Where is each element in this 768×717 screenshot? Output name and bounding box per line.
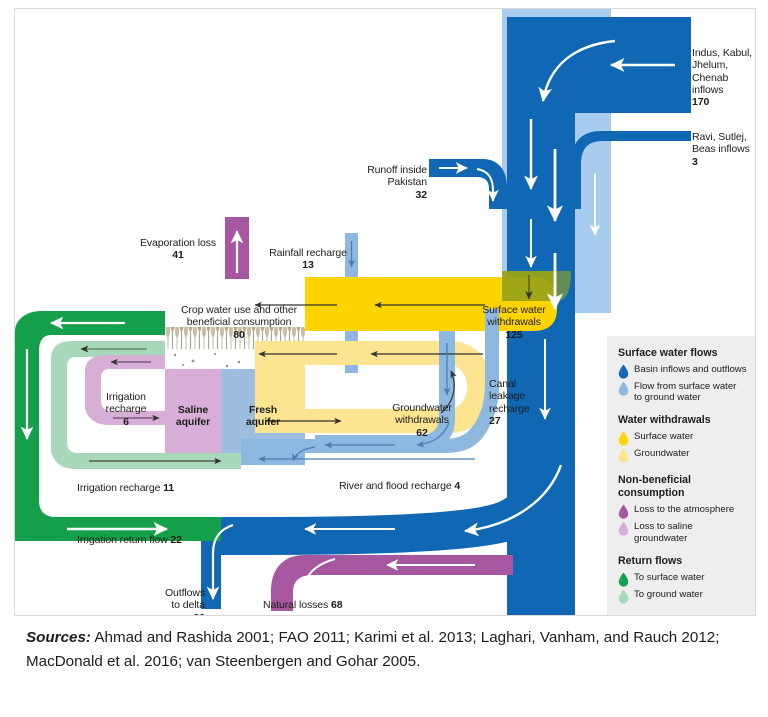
ravi-inflows-value: 3: [692, 156, 756, 168]
rainfall-value: 13: [265, 259, 351, 271]
legend-item-to-ground-water: To ground water: [618, 589, 747, 604]
label-runoff-inside-pakistan: Runoff inside Pakistan32: [355, 152, 427, 213]
natural-losses-text: Natural losses: [263, 599, 331, 611]
rainfall-text: Rainfall recharge: [269, 247, 347, 259]
evaporation-value: 41: [133, 249, 223, 261]
canal-leakage-text: Canal leakage recharge: [489, 378, 530, 414]
water-drop-icon: [618, 431, 629, 446]
legend-heading-surface-water-flows: Surface water flows: [618, 347, 747, 360]
legend-item-surface-to-ground: Flow from surface water to ground water: [618, 381, 747, 403]
label-groundwater-withdrawals: Groundwater withdrawals62: [381, 390, 463, 451]
legend-panel: Surface water flows Basin inflows and ou…: [607, 336, 755, 615]
sources-text: Ahmad and Rashida 2001; FAO 2011; Karimi…: [26, 629, 719, 670]
legend-heading-water-withdrawals: Water withdrawals: [618, 414, 747, 427]
legend-label-basin-inflows: Basin inflows and outflows: [634, 364, 747, 375]
crop-value: 80: [175, 329, 303, 341]
irrigation-return-flow-text: Irrigation return flow: [77, 534, 170, 546]
label-evaporation-loss: Evaporation loss41: [133, 225, 223, 274]
label-river-flood-recharge: River and flood recharge 4: [339, 468, 509, 492]
label-crop-water-use: Crop water use and other beneficial cons…: [175, 292, 303, 353]
label-natural-losses: Natural losses 68: [263, 587, 403, 611]
fresh-aquifer-text: Fresh aquifer: [246, 404, 280, 428]
legend-label-surface-water: Surface water: [634, 431, 693, 442]
groundwater-withdrawals-value: 62: [381, 427, 463, 439]
water-balance-figure: #bde3dd #6b4423: [14, 8, 756, 616]
outflows-delta-value: 30: [147, 612, 205, 616]
legend-label-surface-to-ground: Flow from surface water to ground water: [634, 381, 747, 403]
saline-aquifer-text: Saline aquifer: [176, 404, 210, 428]
legend-item-groundwater: Groundwater: [618, 448, 747, 463]
label-indus-inflows: Indus, Kabul, Jhelum, Chenab inflows170: [692, 35, 756, 120]
water-drop-icon: [618, 521, 629, 536]
water-drop-icon: [618, 589, 629, 604]
sources-prefix: Sources:: [26, 629, 91, 646]
water-drop-icon: [618, 572, 629, 587]
water-drop-icon: [618, 381, 629, 396]
label-surface-water-withdrawals: Surface water withdrawals125: [476, 292, 552, 353]
legend-label-groundwater: Groundwater: [634, 448, 689, 459]
evaporation-loss-flow: [225, 217, 249, 279]
irrigation-recharge-6-value: 6: [97, 416, 155, 428]
surface-withdrawals-value: 125: [476, 329, 552, 341]
legend-heading-return-flows: Return flows: [618, 555, 747, 568]
natural-losses-value: 68: [331, 599, 342, 611]
river-flood-recharge-text: River and flood recharge: [339, 480, 454, 492]
irrigation-recharge-11-text: Irrigation recharge: [77, 482, 163, 494]
irrigation-recharge-11-value: 11: [163, 482, 174, 494]
label-canal-leakage-recharge: Canal leakage recharge27: [489, 366, 535, 439]
canal-leakage-value: 27: [489, 415, 535, 427]
label-rainfall-recharge: Rainfall recharge13: [265, 235, 351, 284]
ravi-inflows-text: Ravi, Sutlej, Beas inflows: [692, 131, 750, 155]
label-irrigation-recharge-11: Irrigation recharge 11: [77, 470, 217, 494]
river-flood-recharge-value: 4: [454, 480, 460, 492]
legend-item-to-surface-water: To surface water: [618, 572, 747, 587]
legend-heading-non-beneficial-consumption: Non-beneficial consumption: [618, 474, 747, 500]
label-fresh-aquifer: Fresh aquifer: [221, 392, 305, 429]
legend-label-to-ground-water: To ground water: [634, 589, 703, 600]
screenshot-page: #bde3dd #6b4423: [0, 0, 768, 717]
legend-label-to-surface-water: To surface water: [634, 572, 704, 583]
runoff-value: 32: [355, 189, 427, 201]
runoff-text: Runoff inside Pakistan: [367, 164, 427, 188]
irrigation-return-flow-value: 22: [170, 534, 181, 546]
outflows-delta-text: Outflows to delta: [165, 587, 205, 611]
legend-item-loss-atmosphere: Loss to the atmosphere: [618, 504, 747, 519]
label-saline-aquifer: Saline aquifer: [165, 392, 221, 429]
legend-label-loss-saline: Loss to saline groundwater: [634, 521, 747, 543]
legend-item-loss-saline: Loss to saline groundwater: [618, 521, 747, 543]
sources-note: Sources: Ahmad and Rashida 2001; FAO 201…: [26, 626, 726, 674]
irrigation-recharge-6-text: Irrigation recharge: [106, 391, 147, 415]
label-irrigation-return-flow: Irrigation return flow 22: [77, 522, 237, 546]
water-drop-icon: [618, 504, 629, 519]
groundwater-withdrawals-text: Groundwater withdrawals: [392, 402, 452, 426]
evaporation-text: Evaporation loss: [140, 237, 216, 249]
legend-item-surface-water: Surface water: [618, 431, 747, 446]
legend-item-basin-inflows: Basin inflows and outflows: [618, 364, 747, 379]
crop-text: Crop water use and other beneficial cons…: [181, 304, 297, 328]
runoff-inside-pakistan-flow: [429, 159, 507, 209]
label-ravi-inflows: Ravi, Sutlej, Beas inflows3: [692, 119, 756, 180]
water-drop-icon: [618, 364, 629, 379]
water-drop-icon: [618, 448, 629, 463]
indus-inflows-value: 170: [692, 96, 756, 108]
indus-inflows-text: Indus, Kabul, Jhelum, Chenab inflows: [692, 47, 752, 96]
legend-label-loss-atmosphere: Loss to the atmosphere: [634, 504, 734, 515]
label-outflows-to-delta: Outflows to delta30: [147, 575, 205, 616]
label-irrigation-recharge-6: Irrigation recharge6: [97, 379, 155, 440]
surface-withdrawals-text: Surface water withdrawals: [482, 304, 545, 328]
